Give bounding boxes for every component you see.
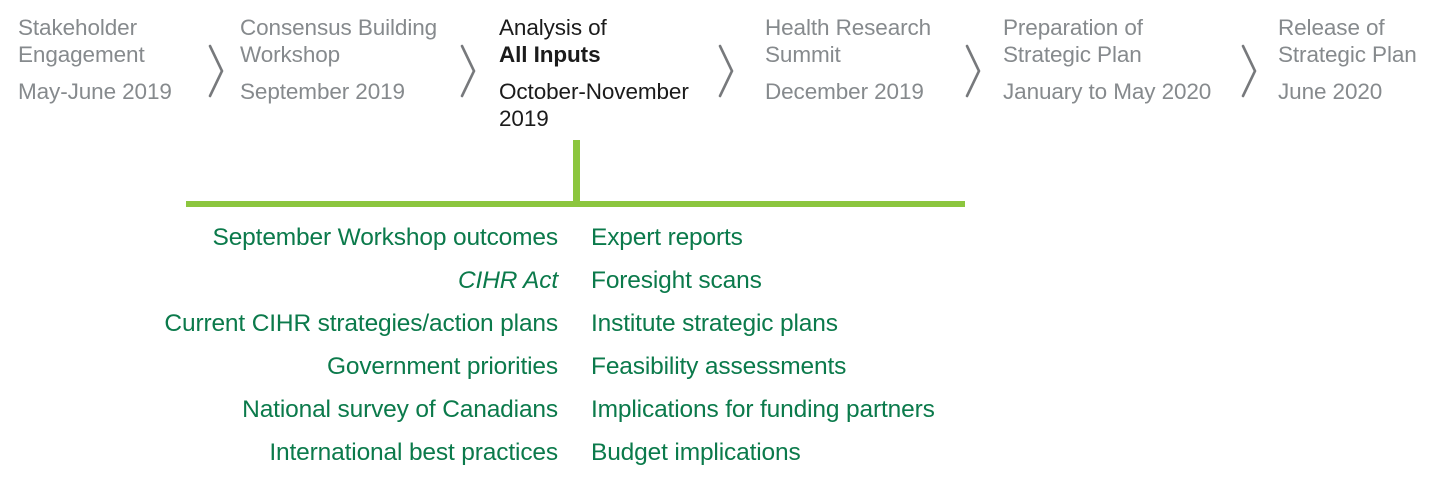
list-item: Government priorities bbox=[100, 345, 558, 388]
chevron-right-icon bbox=[455, 42, 481, 100]
timeline-step-date: May-June 2019 bbox=[18, 78, 193, 105]
timeline-step-date: September 2019 bbox=[240, 78, 450, 105]
chevron-right-icon bbox=[960, 42, 986, 100]
timeline-step-title-bold: All Inputs bbox=[499, 42, 601, 67]
timeline-step-title: Preparation of Strategic Plan bbox=[1003, 14, 1228, 68]
list-item: Expert reports bbox=[591, 216, 1111, 259]
list-item: International best practices bbox=[100, 431, 558, 474]
list-item: Implications for funding partners bbox=[591, 388, 1111, 431]
timeline-step-consensus-building-workshop[interactable]: Consensus Building Workshop September 20… bbox=[240, 14, 450, 105]
list-item: Foresight scans bbox=[591, 259, 1111, 302]
timeline-step-date: June 2020 bbox=[1278, 78, 1428, 105]
timeline-step-title: Consensus Building Workshop bbox=[240, 14, 450, 68]
list-item: Institute strategic plans bbox=[591, 302, 1111, 345]
list-item: September Workshop outcomes bbox=[100, 216, 558, 259]
timeline-step-analysis-of-all-inputs[interactable]: Analysis ofAll Inputs October-November 2… bbox=[499, 14, 704, 132]
timeline-step-date: December 2019 bbox=[765, 78, 955, 105]
timeline-step-health-research-summit[interactable]: Health Research Summit December 2019 bbox=[765, 14, 955, 105]
chevron-right-icon bbox=[713, 42, 739, 100]
list-item: CIHR Act bbox=[100, 259, 558, 302]
list-item: Current CIHR strategies/action plans bbox=[100, 302, 558, 345]
connector-horizontal-bar bbox=[186, 201, 965, 207]
timeline-step-date: January to May 2020 bbox=[1003, 78, 1228, 105]
timeline-step-title: Health Research Summit bbox=[765, 14, 955, 68]
chevron-right-icon bbox=[203, 42, 229, 100]
inputs-left-column: September Workshop outcomes CIHR Act Cur… bbox=[100, 216, 558, 474]
timeline-step-preparation-of-strategic-plan[interactable]: Preparation of Strategic Plan January to… bbox=[1003, 14, 1228, 105]
connector-vertical-stem bbox=[573, 140, 580, 206]
timeline-step-release-of-strategic-plan[interactable]: Release of Strategic Plan June 2020 bbox=[1278, 14, 1428, 105]
timeline-step-date: October-November 2019 bbox=[499, 78, 704, 132]
timeline-step-title: Analysis ofAll Inputs bbox=[499, 14, 704, 68]
process-timeline: Stakeholder Engagement May-June 2019 Con… bbox=[0, 0, 1432, 145]
chevron-right-icon bbox=[1236, 42, 1262, 100]
list-item: Feasibility assessments bbox=[591, 345, 1111, 388]
timeline-step-title: Release of Strategic Plan bbox=[1278, 14, 1428, 68]
timeline-step-title: Stakeholder Engagement bbox=[18, 14, 193, 68]
timeline-step-stakeholder-engagement[interactable]: Stakeholder Engagement May-June 2019 bbox=[18, 14, 193, 105]
inputs-right-column: Expert reports Foresight scans Institute… bbox=[591, 216, 1111, 474]
timeline-step-title-normal: Analysis of bbox=[499, 15, 607, 40]
list-item: Budget implications bbox=[591, 431, 1111, 474]
list-item: National survey of Canadians bbox=[100, 388, 558, 431]
